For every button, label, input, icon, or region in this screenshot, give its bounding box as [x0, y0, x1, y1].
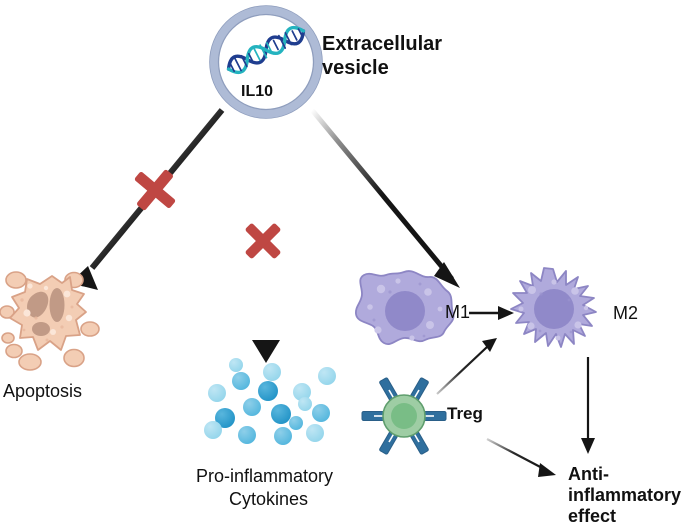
vesicle-caption-line1: Extracellular: [322, 33, 442, 57]
m2-macrophage: [511, 268, 596, 347]
diagram-canvas: Extracellular vesicle IL10 Apoptosis Pro…: [0, 0, 685, 520]
apoptosis-label: Apoptosis: [3, 381, 82, 402]
m2-label: M2: [613, 303, 638, 324]
cytokines-label-line2: Cytokines: [229, 489, 308, 510]
anti-inflammatory-line3: effect: [568, 506, 616, 527]
edge-treg-to-anti: [487, 439, 556, 477]
vesicle-cargo-label: IL10: [241, 83, 273, 102]
treg-cell: [362, 377, 446, 454]
treg-label: Treg: [447, 404, 483, 424]
inhibition-x-cytokines: [233, 211, 292, 270]
edge-treg-to-m2: [437, 338, 497, 394]
m1-label: M1: [445, 302, 470, 323]
edge-m1-to-m2: [469, 306, 514, 320]
apoptosis-cell: [0, 272, 99, 370]
anti-inflammatory-line1: Anti-: [568, 464, 609, 485]
cytokines-label-line1: Pro-inflammatory: [196, 466, 333, 487]
m1-macrophage: [356, 271, 454, 344]
anti-inflammatory-line2: inflammatory: [568, 485, 681, 506]
cytokine-cluster: [204, 358, 336, 445]
vesicle-caption-line2: vesicle: [322, 57, 389, 81]
edge-m2-to-anti: [581, 357, 595, 454]
edge-vesicle-to-m1: [312, 110, 460, 288]
